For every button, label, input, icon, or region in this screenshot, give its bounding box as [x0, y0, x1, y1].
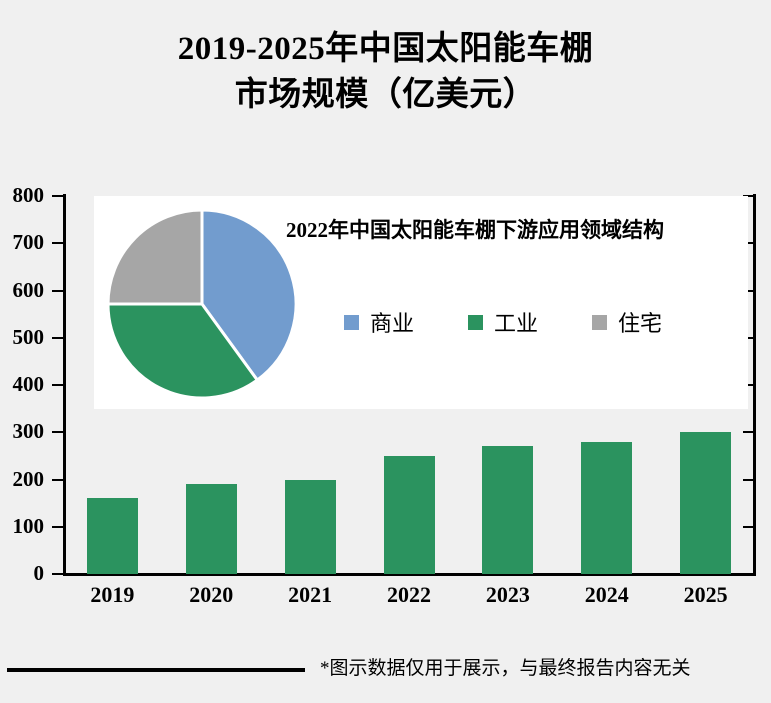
bar-2021: [285, 480, 336, 575]
bar-2024: [581, 442, 632, 574]
x-axis-label-2024: 2024: [557, 582, 656, 608]
pie-svg: [106, 208, 298, 400]
legend-item-住宅: 住宅: [592, 306, 662, 338]
x-axis-label-2021: 2021: [261, 582, 360, 608]
y-axis-tick-label: 400: [13, 374, 45, 395]
legend-swatch-icon: [468, 315, 483, 330]
y-tick-left: [52, 431, 64, 433]
y-tick-left: [52, 195, 64, 197]
y-tick-left: [52, 384, 64, 386]
pie-legend: 商业工业住宅: [344, 306, 716, 338]
pie-chart: [106, 208, 298, 400]
bar-2023: [482, 446, 533, 574]
chart-title-line-1: 2019-2025年中国太阳能车棚: [0, 26, 771, 72]
y-tick-left: [52, 290, 64, 292]
bar-2022: [384, 456, 435, 574]
x-axis-label-2019: 2019: [63, 582, 162, 608]
bar-2025: [680, 432, 731, 574]
y-axis-tick-label: 800: [13, 185, 45, 206]
x-axis-label-2022: 2022: [360, 582, 459, 608]
y-axis-tick-label: 500: [13, 327, 45, 348]
legend-label: 商业: [370, 306, 414, 338]
pie-inset-panel: 2022年中国太阳能车棚下游应用领域结构 商业工业住宅: [94, 196, 748, 409]
pie-slice-住宅: [108, 210, 202, 304]
bar-2020: [186, 484, 237, 574]
y-tick-left: [52, 526, 64, 528]
page-title: 2019-2025年中国太阳能车棚 市场规模（亿美元）: [0, 26, 771, 118]
y-tick-right: [743, 479, 755, 481]
y-axis-tick-label: 600: [13, 280, 45, 301]
legend-label: 工业: [494, 306, 538, 338]
y-tick-right: [743, 431, 755, 433]
y-axis-tick-label: 700: [13, 232, 45, 253]
y-tick-left: [52, 242, 64, 244]
y-tick-right: [743, 573, 755, 575]
legend-item-商业: 商业: [344, 306, 414, 338]
legend-swatch-icon: [592, 315, 607, 330]
y-tick-left: [52, 337, 64, 339]
legend-swatch-icon: [344, 315, 359, 330]
x-axis-label-2020: 2020: [162, 582, 261, 608]
y-axis-tick-label: 300: [13, 421, 45, 442]
y-axis-tick-label: 200: [13, 469, 45, 490]
bar-2019: [87, 498, 138, 574]
chart-title-line-2: 市场规模（亿美元）: [0, 72, 771, 118]
legend-label: 住宅: [618, 306, 662, 338]
y-axis-tick-label: 0: [34, 563, 45, 584]
y-tick-left: [52, 573, 64, 575]
y-tick-right: [743, 526, 755, 528]
y-axis-tick-label: 100: [13, 516, 45, 537]
footer-divider: [7, 668, 305, 672]
pie-chart-title: 2022年中国太阳能车棚下游应用领域结构: [286, 214, 664, 244]
footer-disclaimer: *图示数据仅用于展示，与最终报告内容无关: [320, 653, 691, 680]
bar-chart: 0100200300400500600700800 20192020202120…: [0, 170, 771, 600]
x-axis-label-2025: 2025: [656, 582, 755, 608]
y-tick-left: [52, 479, 64, 481]
x-axis-label-2023: 2023: [458, 582, 557, 608]
legend-item-工业: 工业: [468, 306, 538, 338]
